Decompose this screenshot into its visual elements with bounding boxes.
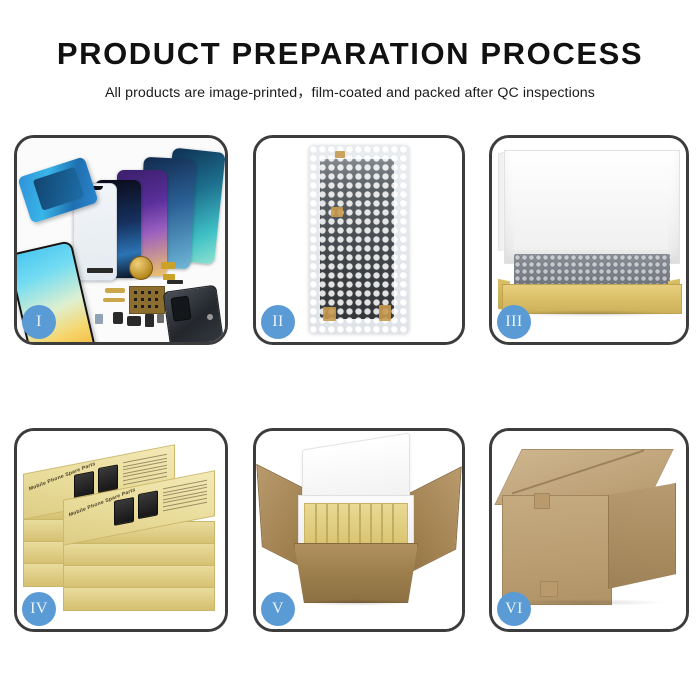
stacked-box-8 [63,587,215,611]
small-part-1-icon [167,280,183,284]
box-stack-icon: Mobile Phone Spare Parts Mobile Phone Sp… [23,445,219,613]
box-print-phone-image-4 [138,490,158,519]
phone-back-housing-icon [163,285,226,345]
step-panel-3: III [489,135,689,345]
gold-chip-1-icon [161,262,175,269]
bubble-wrap-bag-icon [309,145,409,333]
carton-right-face-icon [608,483,676,589]
step-panel-4: Mobile Phone Spare Parts Mobile Phone Sp… [14,428,228,632]
step-numeral-3: III [505,313,522,331]
bubble-wrapped-contents-icon [514,254,670,288]
yellow-boxes-inside-icon [304,503,408,545]
step-badge-2: II [261,305,295,339]
flex-cable-1-icon [105,288,125,293]
tape-bottom-left-icon [323,307,336,321]
box-print-phone-image-3 [114,497,134,526]
step-numeral-2: II [272,313,283,331]
box-print-text-lines-front [163,480,207,517]
tape-mid-icon [331,207,343,217]
speaker-coil-icon [129,256,153,280]
small-part-4-icon [145,314,154,327]
carton-tape-bottom-icon [540,581,558,597]
step-numeral-4: IV [30,600,48,618]
step-panel-5: V [253,428,465,632]
product-preparation-process-infographic: PRODUCT PREPARATION PROCESS All products… [0,0,700,700]
screw-icon [207,314,213,320]
bubble-texture-icon [309,145,409,333]
step-badge-3: III [497,305,531,339]
flex-cable-2-icon [103,298,125,302]
small-part-2-icon [113,312,123,324]
step-panel-1: I [14,135,228,345]
steps-grid: I II [0,0,700,700]
step-numeral-1: I [36,313,42,331]
lcd-inner-icon [33,167,85,211]
step-numeral-5: V [272,600,284,618]
small-part-6-icon [157,314,164,323]
step-panel-2: II [253,135,465,345]
carton-tape-top-icon [534,493,550,509]
stacked-box-6 [63,543,215,567]
carton-front-icon [294,543,418,603]
step-badge-5: V [261,592,295,626]
step-panel-6: VI [489,428,689,632]
carton-shadow [300,599,412,606]
box-shadow [508,310,674,317]
foam-sheet-icon [514,172,668,250]
small-part-3-icon [127,316,141,326]
camera-module-icon [170,296,191,322]
stacked-box-7 [63,565,215,589]
small-part-5-icon [95,314,103,324]
logic-board-icon [129,286,165,314]
connector-strip-icon [87,268,113,273]
step-badge-1: I [22,305,56,339]
step-numeral-6: VI [505,600,523,618]
step-badge-6: VI [497,592,531,626]
tape-top-icon [335,151,345,158]
step-badge-4: IV [22,592,56,626]
tape-bottom-right-icon [379,305,391,321]
